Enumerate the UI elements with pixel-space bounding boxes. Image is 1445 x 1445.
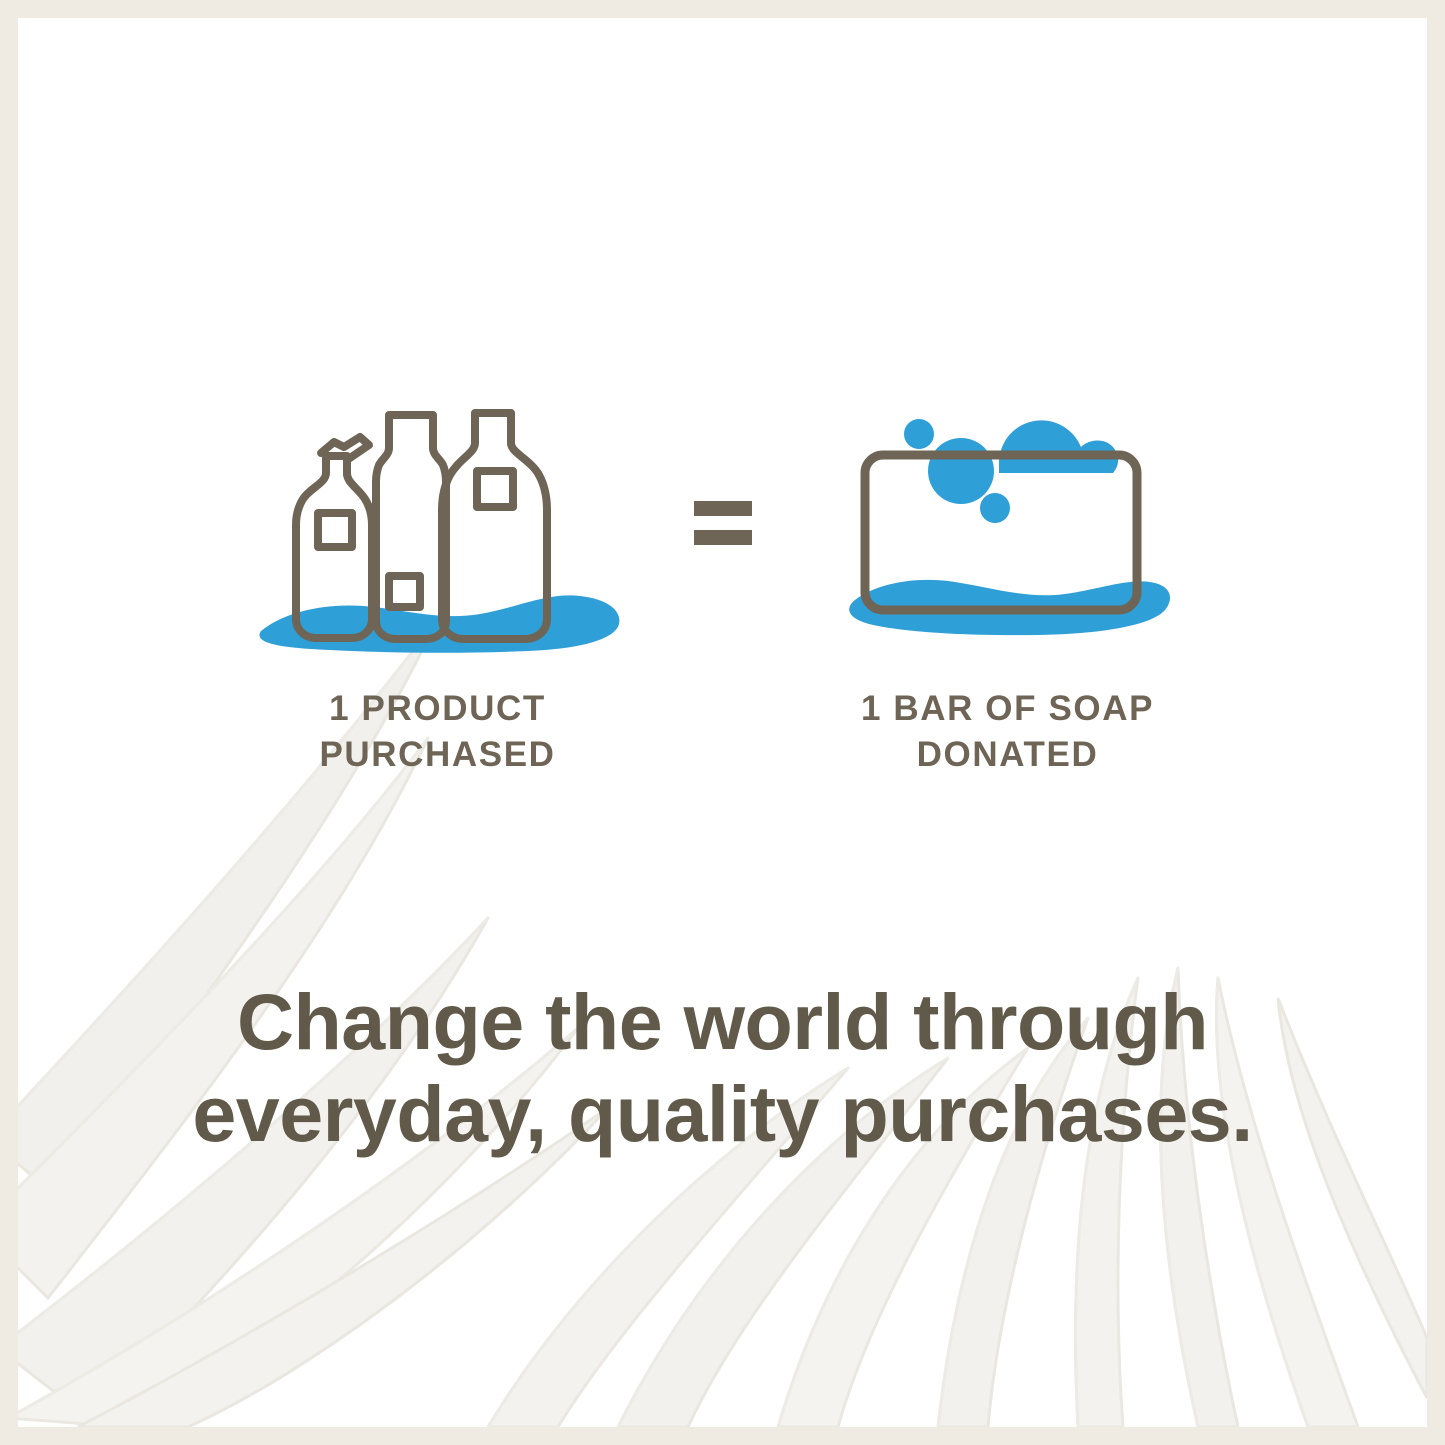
pump-bottle-label xyxy=(318,513,352,547)
equals-bar-bottom xyxy=(694,530,752,545)
bubble-small-top xyxy=(904,419,934,449)
headline-text: Change the world through everyday, quali… xyxy=(18,976,1427,1159)
promise-left-label: 1 PRODUCT PURCHASED xyxy=(319,686,555,778)
poster-inner-card: 1 PRODUCT PURCHASED xyxy=(18,18,1427,1427)
promise-right-column: 1 BAR OF SOAP DONATED xyxy=(798,388,1218,778)
equals-bar-top xyxy=(694,501,752,516)
equals-icon xyxy=(694,501,752,545)
promise-left-column: 1 PRODUCT PURCHASED xyxy=(228,388,648,778)
soap-bar-with-bubbles-icon xyxy=(843,393,1173,658)
tall-bottle-label xyxy=(389,576,420,607)
promise-right-label: 1 BAR OF SOAP DONATED xyxy=(861,686,1154,778)
equals-column xyxy=(648,388,798,658)
bubble-large xyxy=(928,438,994,504)
promise-left-icon-stage xyxy=(248,388,628,658)
give-back-promise-row: 1 PRODUCT PURCHASED xyxy=(18,388,1427,778)
poster-canvas: 1 PRODUCT PURCHASED xyxy=(0,0,1445,1445)
foam-cloud-shape xyxy=(999,420,1118,473)
promise-right-icon-stage xyxy=(843,388,1173,658)
three-bottles-in-water-icon xyxy=(248,393,628,658)
bubble-small-inner xyxy=(980,493,1010,523)
round-bottle-label xyxy=(477,471,513,507)
